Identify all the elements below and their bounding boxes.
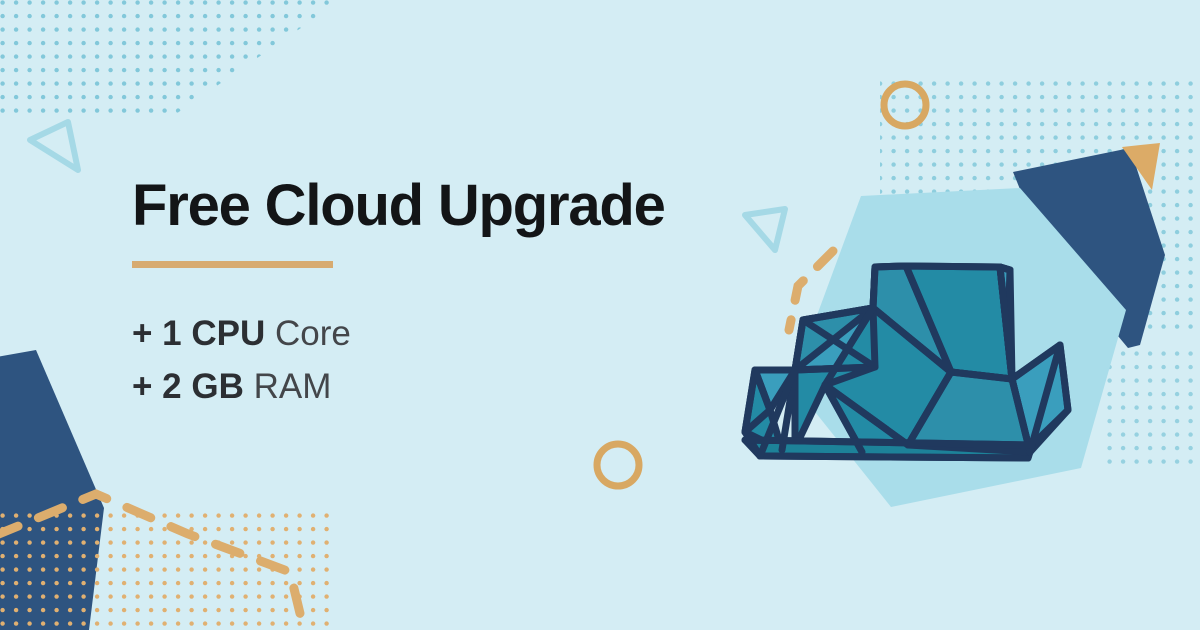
page-title: Free Cloud Upgrade	[132, 176, 692, 237]
spec-ram-rest: RAM	[244, 367, 332, 406]
spec-item-ram: + 2 GB RAM	[132, 360, 692, 413]
dot-grid-bottom-right	[1095, 345, 1200, 485]
spec-cpu-emphasis: + 1 CPU	[132, 314, 265, 353]
spec-list: + 1 CPU Core + 2 GB RAM	[132, 307, 692, 413]
spec-cpu-rest: Core	[265, 314, 351, 353]
spec-item-cpu: + 1 CPU Core	[132, 307, 692, 360]
spec-ram-emphasis: + 2 GB	[132, 367, 244, 406]
banner-content: Free Cloud Upgrade + 1 CPU Core + 2 GB R…	[132, 176, 692, 413]
promo-banner: Free Cloud Upgrade + 1 CPU Core + 2 GB R…	[0, 0, 1200, 630]
cloud-base-line	[745, 440, 1032, 445]
dot-grid-bottom-left	[0, 500, 340, 630]
gold-divider-rule	[132, 261, 333, 268]
